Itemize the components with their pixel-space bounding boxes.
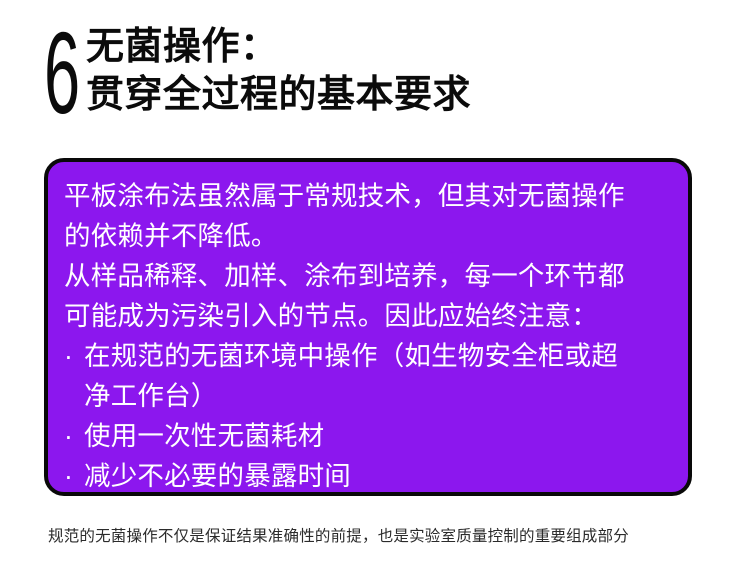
list-item: · 使用一次性无菌耗材	[64, 416, 670, 456]
footer-caption: 规范的无菌操作不仅是保证结果准确性的前提，也是实验室质量控制的重要组成部分	[48, 524, 708, 550]
list-item-continuation: 净工作台）	[64, 376, 670, 416]
list-item-label: 减少不必要的暴露时间	[84, 456, 670, 496]
card-paragraph-line-4: 可能成为污染引入的节点。因此应始终注意：	[64, 296, 670, 336]
card-paragraph-line-2: 的依赖并不降低。	[64, 216, 670, 256]
list-item-label: 使用一次性无菌耗材	[84, 416, 670, 456]
bullet-icon: ·	[64, 416, 84, 456]
page-header: 6 无菌操作： 贯穿全过程的基本要求	[44, 22, 471, 127]
content-card: 平板涂布法虽然属于常规技术，但其对无菌操作 的依赖并不降低。 从样品稀释、加样、…	[44, 158, 692, 496]
list-item: · 在规范的无菌环境中操作（如生物安全柜或超	[64, 336, 670, 376]
card-paragraph-line-3: 从样品稀释、加样、涂布到培养，每一个环节都	[64, 256, 670, 296]
section-number: 6	[44, 20, 80, 127]
bullet-icon: ·	[64, 456, 84, 496]
page-title-line-1: 无菌操作：	[86, 24, 471, 72]
card-paragraph-line-1: 平板涂布法虽然属于常规技术，但其对无菌操作	[64, 176, 670, 216]
page-title-line-2: 贯穿全过程的基本要求	[86, 72, 471, 120]
bullet-icon: ·	[64, 336, 84, 376]
list-item-label: 在规范的无菌环境中操作（如生物安全柜或超	[84, 336, 670, 376]
page-title: 无菌操作： 贯穿全过程的基本要求	[86, 22, 471, 120]
list-item-label-wrap: 净工作台）	[84, 376, 218, 416]
list-item: · 减少不必要的暴露时间	[64, 456, 670, 496]
